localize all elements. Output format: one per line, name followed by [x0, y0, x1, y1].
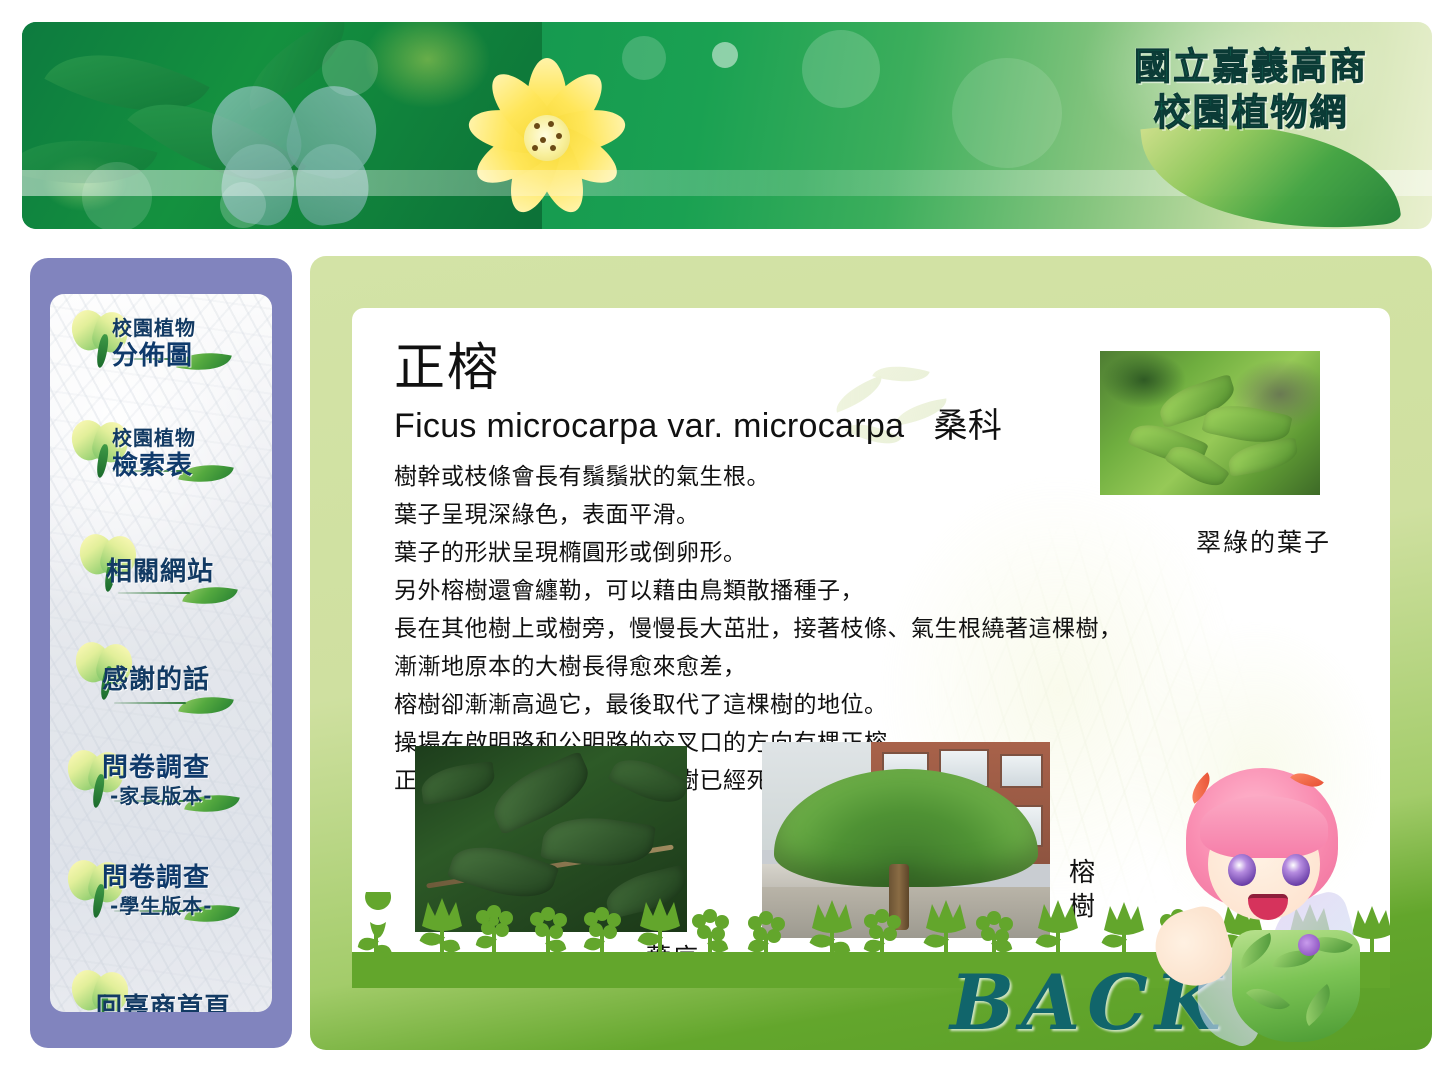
sidebar-item-survey-parent[interactable]: 問卷調查 -家長版本-: [50, 746, 272, 842]
sidebar-item-label-line1: 校園植物: [112, 314, 272, 342]
description-line: 榕樹卻漸漸高過它，最後取代了這棵樹的地位。: [394, 686, 1390, 724]
sidebar-item-label-line2: 分佈圖: [112, 342, 272, 370]
fairy-eye-right: [1282, 854, 1310, 886]
sidebar-item-related-sites[interactable]: 相關網站: [50, 530, 272, 626]
page-root: 國立嘉義高商 校園植物網 校園植物 分佈圖: [0, 0, 1452, 1090]
sidebar-item-survey-student[interactable]: 問卷調查 -學生版本-: [50, 856, 272, 952]
leaves-photo-art: [1100, 351, 1320, 495]
fairy-bangs: [1200, 796, 1328, 858]
fairy-eye-left: [1228, 854, 1256, 886]
sidebar-item-label-line1: 問卷調查: [102, 864, 272, 892]
sidebar-item-label: 感謝的話: [102, 646, 272, 694]
sidebar-item-label-line2: 檢索表: [112, 452, 272, 480]
sidebar-item-label: 回嘉商首頁: [96, 974, 272, 1012]
sidebar-item-label-line2: -學生版本-: [102, 892, 272, 920]
logo-line-2: 校園植物網: [1086, 90, 1416, 136]
stem-icon: [114, 702, 186, 704]
sidebar-item-campus-plant-map[interactable]: 校園植物 分佈圖: [50, 306, 272, 402]
sidebar-item-label-line2: -家長版本-: [102, 782, 272, 810]
sidebar-nav: 校園植物 分佈圖 校園植物 檢索表: [30, 258, 292, 1048]
photo-bright-green-leaves[interactable]: 翠綠的葉子: [1100, 351, 1320, 495]
logo-line-1: 國立嘉義高商: [1086, 44, 1416, 90]
description-line: 另外榕樹還會纏勒，可以藉由鳥類散播種子，: [394, 572, 1390, 610]
sidebar-item-label-line1: 校園植物: [112, 424, 272, 452]
stem-icon: [118, 592, 190, 594]
scientific-name: Ficus microcarpa var. microcarpa: [394, 407, 904, 445]
sidebar-item-back-to-school-home[interactable]: 回嘉商首頁: [50, 966, 272, 1012]
plant-family: 桑科: [934, 406, 1003, 446]
photo-caption: 翠綠的葉子: [1196, 523, 1331, 559]
yellow-flower-photo: [432, 50, 662, 225]
description-line: 漸漸地原本的大樹長得愈來愈差，: [394, 648, 1390, 686]
description-line: 長在其他樹上或樹旁，慢慢長大茁壯，接著枝條、氣生根繞著這棵樹，: [394, 610, 1390, 648]
fairy-flower-icon: [1298, 934, 1320, 956]
fairy-mascot: [1152, 762, 1402, 1054]
site-banner: 國立嘉義高商 校園植物網: [22, 22, 1432, 229]
sidebar-item-label: 相關網站: [106, 538, 272, 586]
sidebar-item-label-line1: 問卷調查: [102, 754, 272, 782]
sidebar-item-campus-plant-index[interactable]: 校園植物 檢索表: [50, 416, 272, 512]
butterfly-icon: [212, 80, 382, 229]
sidebar-item-acknowledgements[interactable]: 感謝的話: [50, 638, 272, 734]
photo-frame: [1100, 351, 1320, 495]
site-logo[interactable]: 國立嘉義高商 校園植物網: [1086, 28, 1416, 228]
